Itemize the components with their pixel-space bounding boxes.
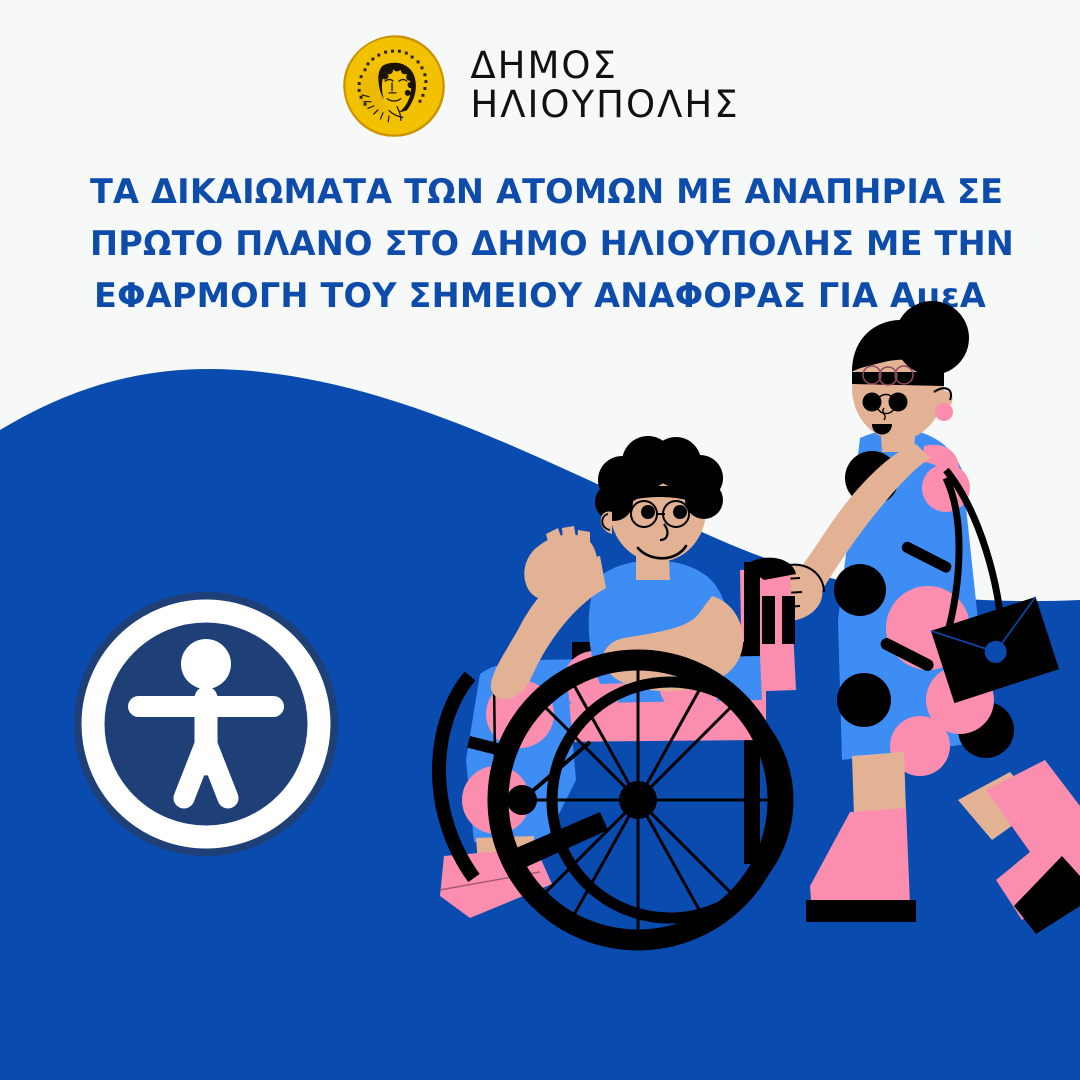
site-logo: ΔΗΜΟΣ ΗΛΙΟΥΠΟΛΗΣ (0, 28, 1080, 143)
poster-canvas: ΔΗΜΟΣ ΗΛΙΟΥΠΟΛΗΣ ΤΑ ΔΙΚΑΙΩΜΑΤΑ ΤΩΝ ΑΤΟΜΩ… (0, 0, 1080, 1080)
background-wave (0, 0, 1080, 1080)
accessibility-person-icon (74, 592, 338, 856)
title-line-3: ΕΦΑΡΜΟΓΗ ΤΟΥ ΣΗΜΕΙΟΥ ΑΝΑΦΟΡΑΣ ΓΙΑ ΑμεΑ (90, 270, 990, 322)
logo-line-1: ΔΗΜΟΣ (470, 47, 739, 85)
title-line-1: ΤΑ ΔΙΚΑΙΩΜΑΤΑ ΤΩΝ ΑΤΟΜΩΝ ΜΕ ΑΝΑΠΗΡΙΑ ΣΕ (90, 166, 990, 218)
logo-line-2: ΗΛΙΟΥΠΟΛΗΣ (470, 86, 739, 124)
title-line-2: ΠΡΩΤΟ ΠΛΑΝΟ ΣΤΟ ΔΗΜΟ ΗΛΙΟΥΠΟΛΗΣ ΜΕ ΤΗΝ (90, 218, 990, 270)
municipality-coin-emblem-icon (340, 32, 448, 140)
logo-wordmark: ΔΗΜΟΣ ΗΛΙΟΥΠΟΛΗΣ (470, 47, 739, 124)
page-title: ΤΑ ΔΙΚΑΙΩΜΑΤΑ ΤΩΝ ΑΤΟΜΩΝ ΜΕ ΑΝΑΠΗΡΙΑ ΣΕ … (90, 166, 990, 322)
